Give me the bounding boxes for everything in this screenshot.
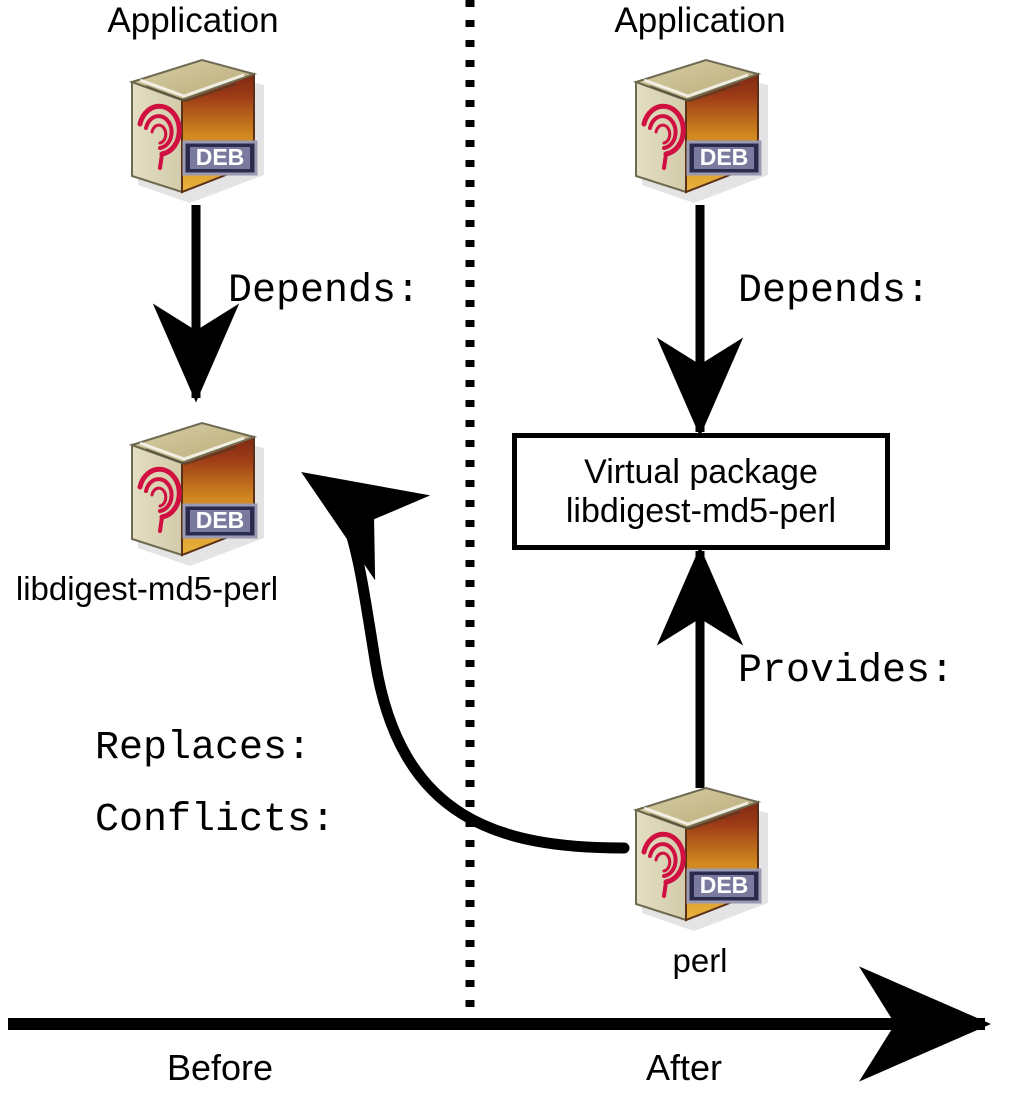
deb-badge-app-after: DEB <box>688 142 760 174</box>
svg-text:DEB: DEB <box>700 144 749 170</box>
package-icon-app-after: DEB <box>636 60 768 203</box>
relation-label-depends-before: Depends: <box>228 272 420 312</box>
package-label-perl-after: perl <box>672 944 727 977</box>
relation-label-depends-after: Depends: <box>738 272 930 312</box>
relation-label-conflicts: Conflicts: <box>95 801 335 841</box>
virtual-package-box: Virtual package libdigest-md5-perl <box>512 433 890 550</box>
deb-badge-libdigest-before: DEB <box>184 505 256 537</box>
title-application-before: Application <box>107 3 278 38</box>
axis-label-after: After <box>646 1050 722 1086</box>
title-application-after: Application <box>614 3 785 38</box>
svg-text:DEB: DEB <box>196 144 245 170</box>
package-icon-libdigest-before: DEB <box>132 423 264 566</box>
package-icon-app-before: DEB <box>132 60 264 203</box>
svg-text:DEB: DEB <box>196 507 245 533</box>
svg-text:DEB: DEB <box>700 872 749 898</box>
relation-label-provides-after: Provides: <box>738 652 954 692</box>
package-label-libdigest-before: libdigest-md5-perl <box>16 572 278 605</box>
deb-badge-perl-after: DEB <box>688 870 760 902</box>
deb-badge-app-before: DEB <box>184 142 256 174</box>
diagram-canvas: DEB DEB <box>0 0 1024 1094</box>
axis-label-before: Before <box>167 1050 273 1086</box>
relation-label-replaces: Replaces: <box>95 729 311 769</box>
virtual-package-line2: libdigest-md5-perl <box>566 492 836 530</box>
virtual-package-line1: Virtual package <box>584 453 818 491</box>
package-icon-perl-after: DEB <box>636 788 768 931</box>
